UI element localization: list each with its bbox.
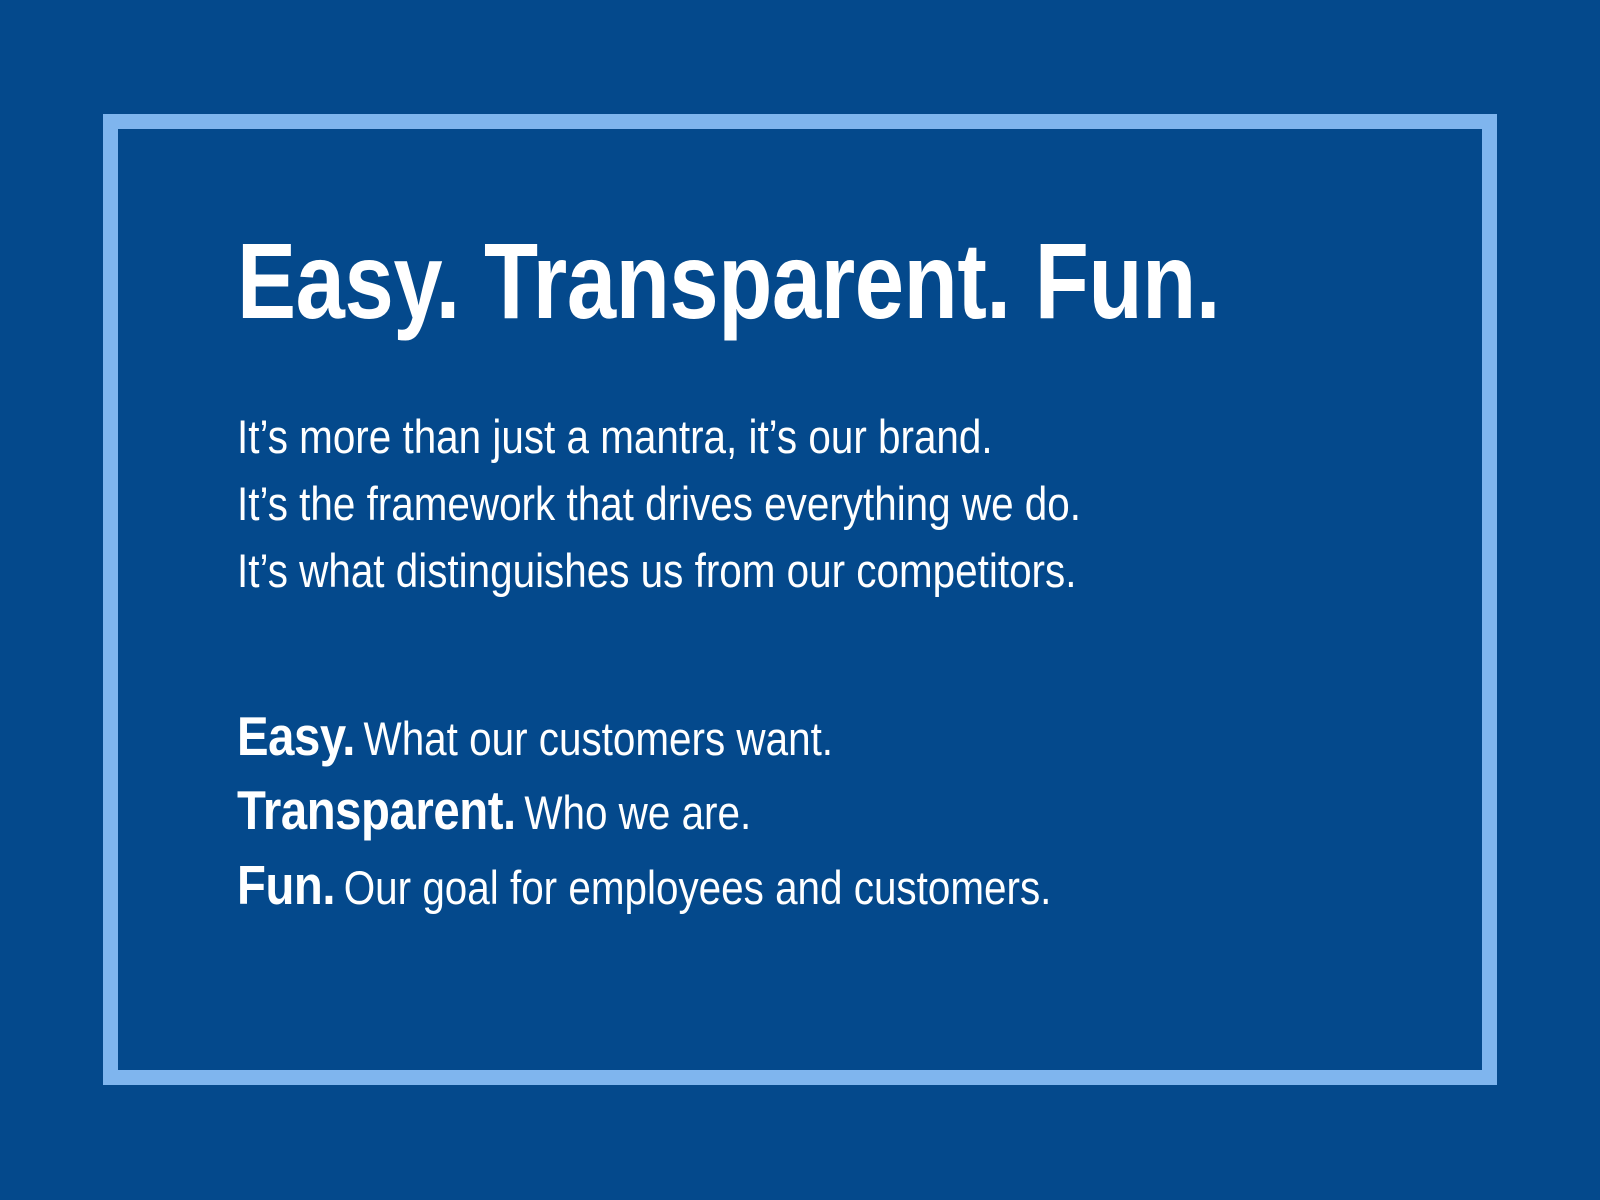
definition-description-fun: Our goal for employees and customers.: [344, 861, 1052, 914]
definition-term-easy: Easy.: [237, 705, 355, 767]
intro-line-2: It’s the framework that drives everythin…: [237, 471, 1269, 538]
intro-line-3: It’s what distinguishes us from our comp…: [237, 538, 1269, 605]
definition-item-fun: Fun.Our goal for employees and customers…: [237, 848, 1269, 923]
definition-term-transparent: Transparent.: [237, 779, 516, 841]
intro-paragraph: It’s more than just a mantra, it’s our b…: [237, 404, 1269, 604]
definition-term-fun: Fun.: [237, 854, 335, 916]
definition-item-easy: Easy.What our customers want.: [237, 699, 1269, 774]
brand-values-slide: Easy. Transparent. Fun. It’s more than j…: [0, 0, 1600, 1200]
definition-list: Easy.What our customers want. Transparen…: [237, 699, 1269, 923]
slide-content: Easy. Transparent. Fun. It’s more than j…: [237, 224, 1437, 923]
definition-description-easy: What our customers want.: [364, 712, 833, 765]
intro-line-1: It’s more than just a mantra, it’s our b…: [237, 404, 1269, 471]
definition-item-transparent: Transparent.Who we are.: [237, 773, 1269, 848]
definition-description-transparent: Who we are.: [524, 786, 751, 839]
slide-headline: Easy. Transparent. Fun.: [237, 224, 1221, 338]
